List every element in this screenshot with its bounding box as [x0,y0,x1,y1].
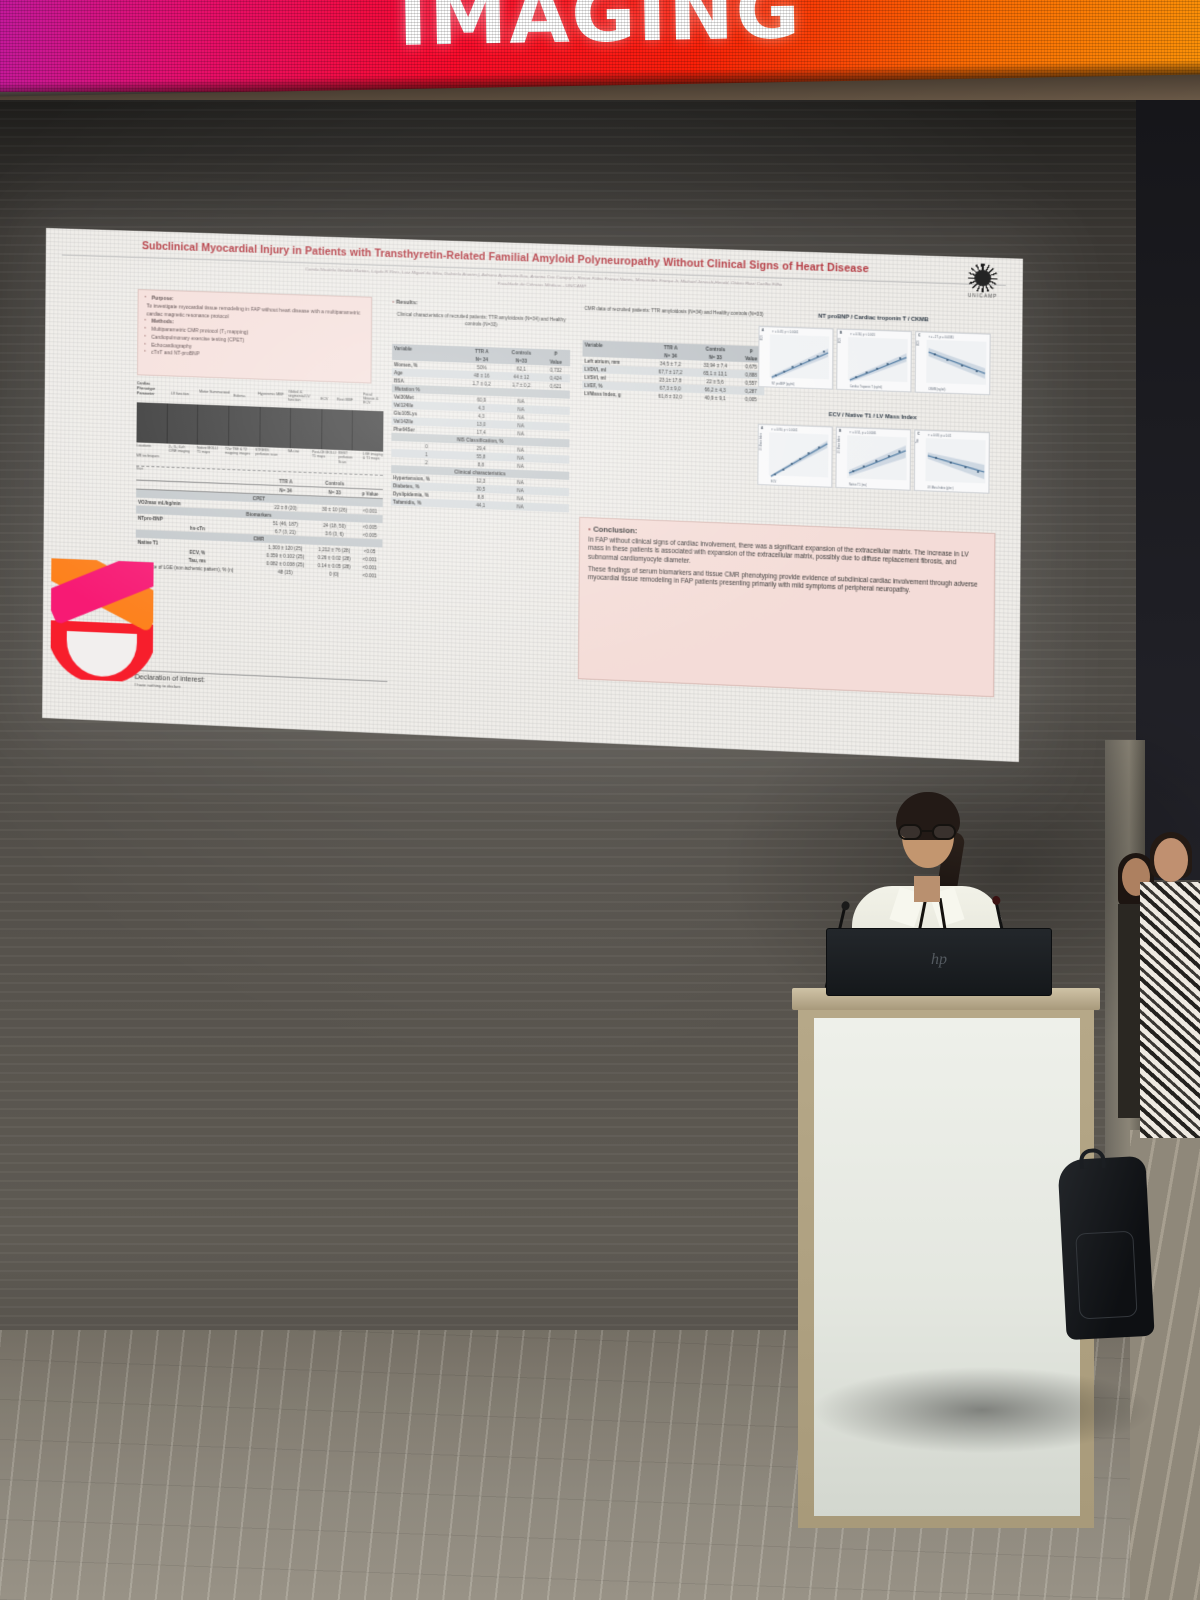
unicamp-sunburst-icon [968,263,998,293]
row-ctrl: 40,9 ± 9,1 [693,393,738,403]
panel-tag: C [918,333,920,337]
scatter-panel-ntprobnp: A r² = 0.43, p < 0.0001 ECV NT proBNP (p… [758,326,833,390]
cmr-data-table: Variable TTR A Controls p N= 34 N= 33 Va… [582,340,764,403]
cmr-top-label: Motor Summarized [199,390,230,395]
panel-tag: A [761,426,763,430]
cmr-image-hyperemic-mbf [229,406,259,447]
cmr-protocol-strip: Cardiac Phenotype Parameter LV function … [136,381,383,477]
panel-stat: r² = 0.34, p < 0.001 [850,332,875,337]
row-ttr: 61,8 ± 32,0 [648,391,693,401]
cmr-row-label-3: Parameter [137,391,155,396]
cmr-image-focal-fibrosis [353,410,383,451]
cmr-image-edema [198,405,228,446]
chart-group-2: A r² = 0.80, p < 0.0001 LV Mass Index EC… [757,424,990,494]
presenter-neck [914,876,940,902]
cmr-top-label: Rest MBF [337,397,353,402]
unicamp-logo: UNICAMP [960,263,1005,308]
cmr-bottom-label: LGE imaging & T1 maps [363,452,383,461]
cmr-bottom-label: STRESS perfusion scan [255,448,279,457]
panel-xlabel: Cardiac Troponin T (ng/ml) [850,385,882,389]
panel-ylabel: Tau [916,439,919,443]
scatter-svg [769,432,832,479]
cmr-bottom-label: 2-, 3-, 4-ch CINE imaging [169,445,193,454]
cmr-row-label-2: Phenotype [137,386,155,391]
cmr-bottom-label: REST perfusion Scan [338,451,360,465]
audience-1-body [1140,882,1200,1138]
confidence-monitor[interactable]: hp [826,928,1052,996]
chart-group-2-title: ECV / Native T1 / LV Mass Index [758,410,988,424]
row-ctrl: NA [500,502,541,512]
mid-table-caption: Clinical characteristics of recruited pa… [392,312,570,331]
cmr-top-label: Global & segmental LV function [288,390,318,403]
row-ttr: 48 (15) [259,567,311,577]
panel-stat: r² = 0.43, p < 0.0001 [772,329,798,334]
scatter-panel-troponin: B r² = 0.34, p < 0.001 ECV Cardiac Tropo… [836,329,912,393]
panel-stat: r² = 0.08, p = 0.41 [928,433,951,438]
panel-xlabel: LV Mass Index (g/m²) [927,486,953,490]
panel-tag: B [839,429,841,433]
audience-1-head [1154,838,1188,882]
cmr-image-rest-mbf [322,409,352,450]
banner-headline: IMAGING [0,0,1200,72]
glasses-lens-right [932,824,956,840]
poster-slide: Subclinical Myocardial Injury in Patient… [42,228,1023,762]
cmr-bottom-label: SA cine [288,449,308,454]
backpack-handle [1079,1148,1106,1169]
cmr-top-label: ECV [321,397,329,401]
panel-xlabel: NT proBNP (pg/ml) [772,382,795,386]
scatter-panel-ckmb: C r = -.27, p = 0.0381 ECV CKMB (ng/ml) [915,331,991,395]
glasses-icon [898,824,958,840]
audience-member-1 [1140,838,1200,1138]
backpack-pocket [1075,1231,1137,1320]
projection-screen: Subclinical Myocardial Injury in Patient… [42,228,1023,762]
timeline-start: Start [136,466,143,470]
conclusion-box: Conclusion: In FAP without clinical sign… [578,517,996,697]
cmr-top-label: Edema [233,394,245,398]
cmr-bottom-label: Post-CE MOLLI T1 maps [312,450,336,459]
cmr-image-lv-function [136,402,166,443]
panel-tag: A [762,328,764,332]
panel-xlabel: ECV [771,480,777,483]
cmr-bottom-label: Native MOLLI T1 maps [197,446,221,455]
chart-group-1: A r² = 0.43, p < 0.0001 ECV NT proBNP (p… [758,326,991,395]
scatter-panel-lv-mass-index: C r² = 0.08, p = 0.41 Tau LV Mass Index … [914,429,990,493]
backpack [1057,1156,1154,1340]
row-ttr: 44,1 [461,500,500,510]
unicamp-logo-label: UNICAMP [960,293,1004,300]
panel-tag: B [840,331,842,335]
purpose-methods-box: Purpose: To investigate myocardial tissu… [137,289,372,384]
cmr-table-caption: CMR data of recruited patients: TTR amyl… [583,306,765,319]
scatter-svg [926,340,989,387]
cmr-bottom-label-techniques: MR techniques [136,453,159,458]
glasses-bridge [922,830,932,832]
cmr-image-global-lv [260,407,290,448]
panel-xlabel: CKMB (ng/ml) [928,388,945,392]
panel-ylabel: ECV [917,340,920,346]
row-label: Tafamidis, % [391,497,462,508]
clinical-characteristics-table: Variable TTR A Controls P N= 34 N=33 Val… [391,344,570,512]
podium-floor-shadow [700,1350,1170,1470]
row-p: <0.001 [357,571,382,580]
chart-group-1-title: NT proBNP / Cardiac troponin T / CKMB [759,312,989,326]
panel-stat: r = -.27, p = 0.0381 [929,335,954,340]
cmr-row-label-1: Cardiac [137,381,150,385]
row-label: LVMass Index, g [582,389,648,399]
panel-ylabel: ECV [761,335,764,341]
panel-tag: C [917,432,919,436]
scatter-svg [848,337,911,384]
hp-logo: hp [827,951,1051,969]
scatter-svg [770,334,833,381]
cmr-bottom-label-locations: Locations [136,443,151,448]
scatter-panel-native-t1: B r² = 0.51, p = 0.0006 LV Mass Index Na… [835,427,911,491]
panel-ylabel: ECV [839,338,842,344]
panel-ylabel: LV Mass Index [838,436,841,453]
results-heading: Results: [392,299,417,306]
scatter-panel-ecv: A r² = 0.80, p < 0.0001 LV Mass Index EC… [757,424,832,488]
panel-ylabel: LV Mass Index [760,433,763,450]
cmr-image-ecv [291,408,321,449]
declaration-of-interest: Declaration of interest: I have nothing … [135,670,388,698]
cmr-top-label: Hyperemic MBF [258,392,284,397]
row-ctrl: 0 (0) [311,569,357,579]
panel-xlabel: Native T1 (ms) [849,483,867,487]
cmr-image-motor [167,403,197,444]
scatter-svg [925,438,988,485]
cmr-bottom-label: T2w TSE & T2 mapping images [225,447,251,457]
left-results-table: TTR A Controls N= 34 N= 33 p Value CPET … [135,471,382,580]
scatter-svg [847,435,910,482]
cmr-top-label: LV function [171,392,189,397]
row-p: 0,005 [737,395,764,404]
cmr-top-label: Focal fibrosis & ECV [363,392,383,405]
event-ribbon-logo [50,558,153,683]
glasses-lens-left [898,824,922,840]
